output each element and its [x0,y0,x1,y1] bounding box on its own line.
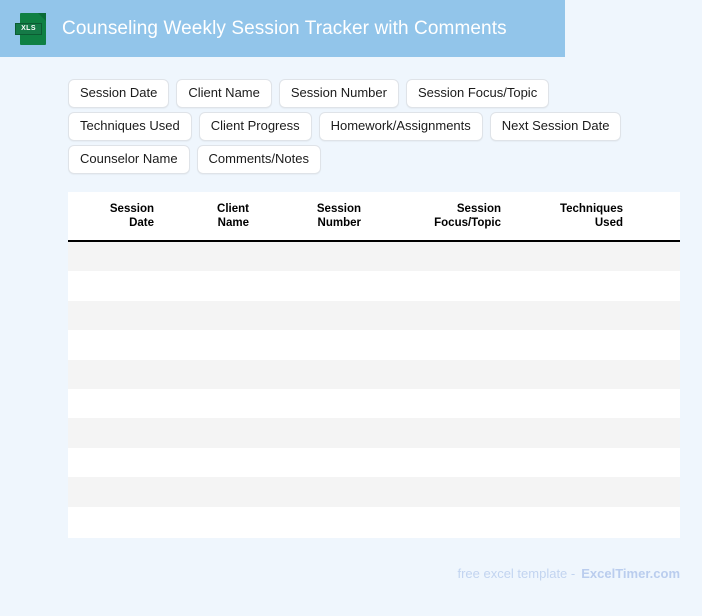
table-header-row: Session Date Client Name Session Number … [68,192,680,242]
table-body [68,242,680,536]
tag-counselor-name[interactable]: Counselor Name [68,145,190,174]
tag-client-progress[interactable]: Client Progress [199,112,312,141]
tag-row-3: Counselor Name Comments/Notes [68,145,680,174]
spreadsheet-table[interactable]: Session Date Client Name Session Number … [68,192,680,538]
tag-next-session-date[interactable]: Next Session Date [490,112,622,141]
footer-brand-link[interactable]: ExcelTimer.com [581,566,680,581]
tag-row-1: Session Date Client Name Session Number … [68,79,680,108]
field-tag-list: Session Date Client Name Session Number … [68,79,680,178]
page-title: Counseling Weekly Session Tracker with C… [62,18,507,40]
xls-icon-fold [38,13,46,21]
table-row[interactable] [68,271,680,300]
column-header-client-progress[interactable]: Client Progress [637,202,680,230]
column-header-session-focus-topic[interactable]: Session Focus/Topic [375,202,515,230]
table-row[interactable] [68,418,680,447]
xls-icon-label: XLS [15,23,42,35]
xls-file-icon: XLS [20,13,46,45]
column-header-techniques-used[interactable]: Techniques Used [515,202,637,230]
app-header-bar: XLS Counseling Weekly Session Tracker wi… [0,0,565,57]
table-row[interactable] [68,330,680,359]
tag-session-number[interactable]: Session Number [279,79,399,108]
tag-techniques-used[interactable]: Techniques Used [68,112,192,141]
tag-homework-assignments[interactable]: Homework/Assignments [319,112,483,141]
column-header-client-name[interactable]: Client Name [168,202,263,230]
table-row[interactable] [68,389,680,418]
table-row[interactable] [68,448,680,477]
table-row[interactable] [68,360,680,389]
footer-credit: free excel template -ExcelTimer.com [457,566,680,581]
column-header-session-number[interactable]: Session Number [263,202,375,230]
table-row[interactable] [68,477,680,506]
table-row[interactable] [68,301,680,330]
tag-row-2: Techniques Used Client Progress Homework… [68,112,680,141]
tag-client-name[interactable]: Client Name [176,79,272,108]
table-row[interactable] [68,242,680,271]
tag-session-date[interactable]: Session Date [68,79,169,108]
column-header-session-date[interactable]: Session Date [68,202,168,230]
tag-comments-notes[interactable]: Comments/Notes [197,145,321,174]
table-row[interactable] [68,507,680,536]
tag-session-focus-topic[interactable]: Session Focus/Topic [406,79,549,108]
footer-text: free excel template - [457,566,575,581]
